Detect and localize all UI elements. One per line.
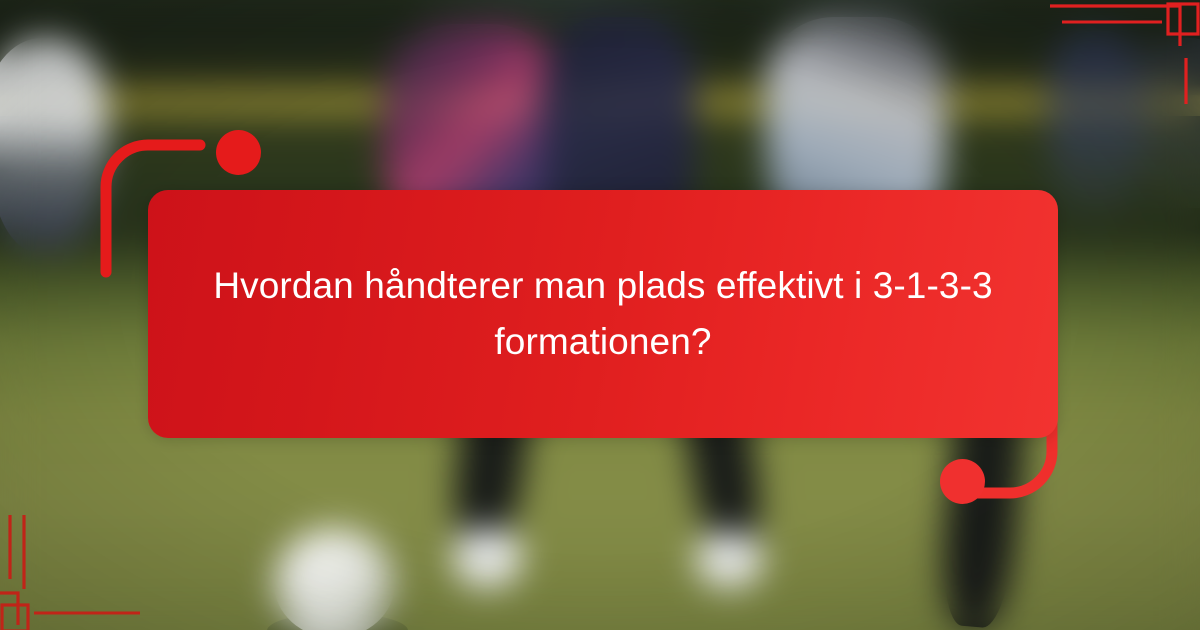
social-card-canvas: Hvordan håndterer man plads effektivt i …	[0, 0, 1200, 630]
headline-card: Hvordan håndterer man plads effektivt i …	[148, 190, 1058, 438]
top-left-accent-dot	[216, 130, 261, 175]
bottom-right-accent-dot	[940, 459, 985, 504]
page-title: Hvordan håndterer man plads effektivt i …	[148, 258, 1058, 370]
